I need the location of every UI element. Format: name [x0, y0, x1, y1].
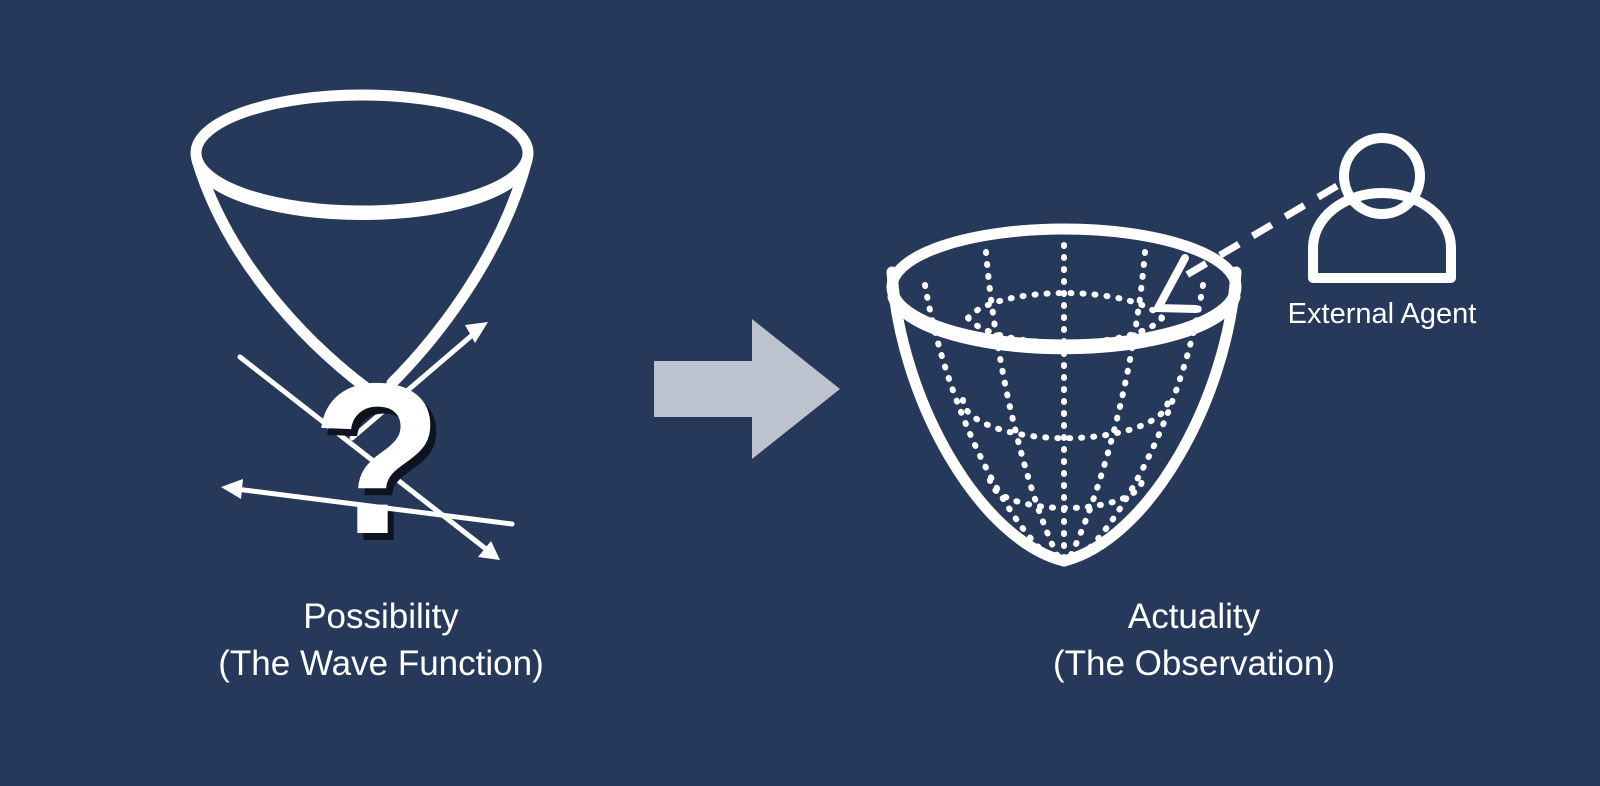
possibility-caption-main: Possibility	[303, 597, 459, 636]
external-agent-label: External Agent	[1288, 298, 1477, 330]
question-mark: ? ?	[311, 338, 448, 586]
diagram-canvas: ? ?	[0, 0, 1600, 786]
possibility-caption-sub: (The Wave Function)	[218, 644, 543, 683]
actuality-caption-sub: (The Observation)	[1053, 644, 1335, 683]
diagram-root: ? ?	[0, 0, 1600, 786]
actuality-caption-main: Actuality	[1128, 597, 1261, 636]
question-mark-glyph: ?	[311, 338, 442, 579]
